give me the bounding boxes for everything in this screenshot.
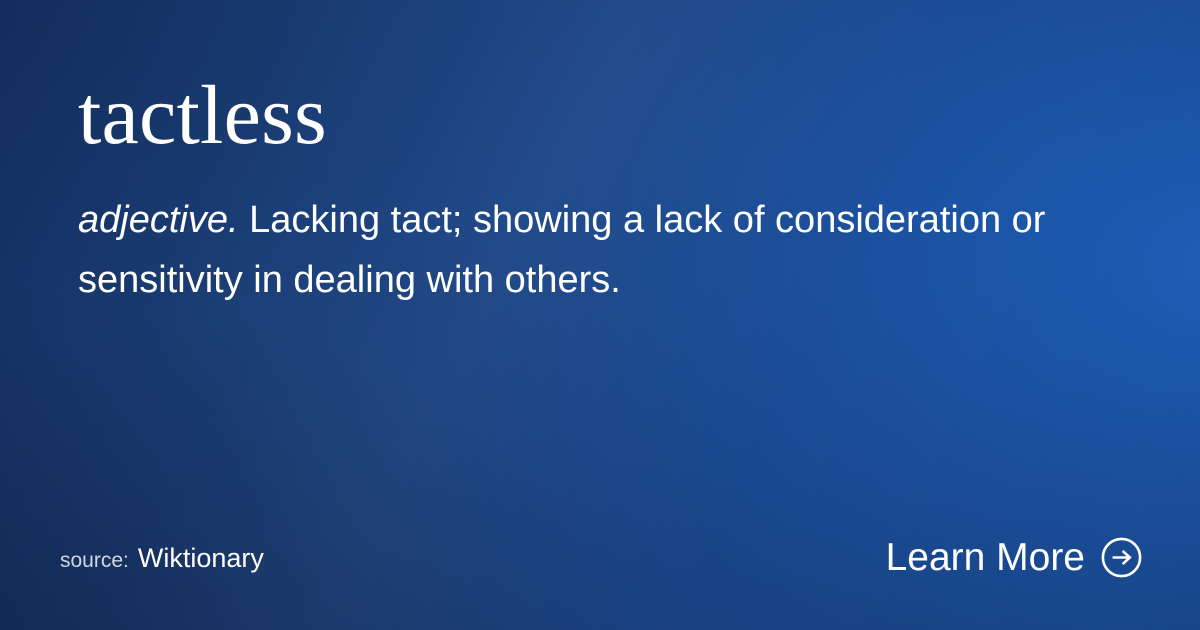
word-of-the-day-card: tactless adjective. Lacking tact; showin… bbox=[0, 0, 1200, 630]
source-attribution: source: Wiktionary bbox=[60, 545, 264, 572]
word-title: tactless bbox=[78, 74, 327, 158]
part-of-speech-label: adjective. bbox=[78, 199, 239, 241]
source-label: source: bbox=[60, 550, 129, 571]
definition-text: adjective. Lacking tact; showing a lack … bbox=[78, 190, 1118, 310]
card-content: tactless adjective. Lacking tact; showin… bbox=[0, 0, 1200, 630]
learn-more-label: Learn More bbox=[886, 538, 1085, 577]
source-name: Wiktionary bbox=[138, 545, 264, 572]
arrow-right-circle-icon bbox=[1101, 537, 1142, 578]
learn-more-button[interactable]: Learn More bbox=[886, 537, 1142, 578]
